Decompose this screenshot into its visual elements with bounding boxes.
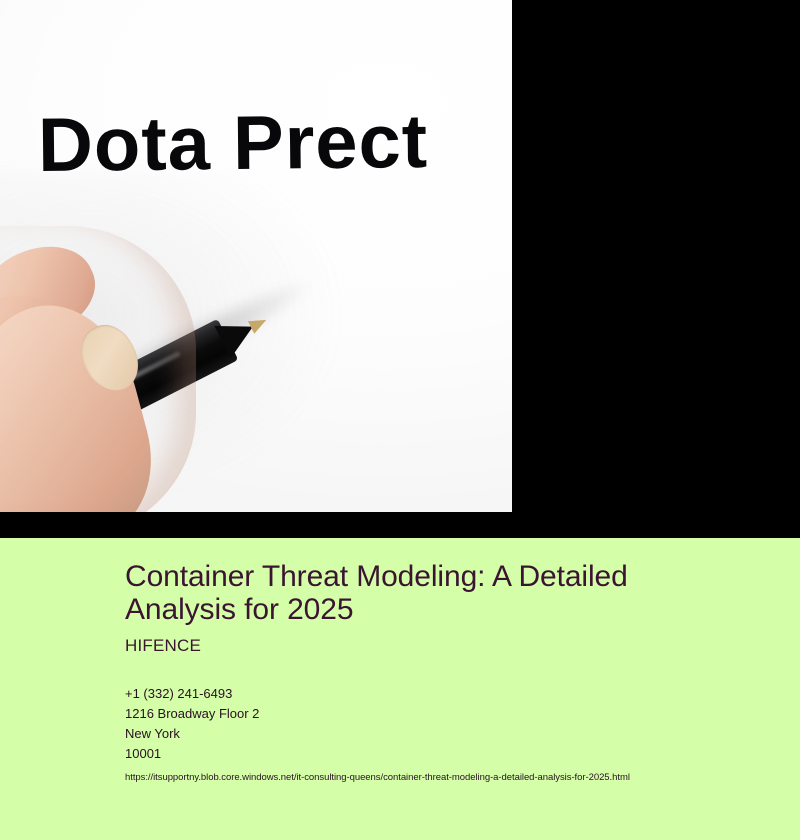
contact-street: 1216 Broadway Floor 2 [125,704,760,724]
hand-illustration [0,232,190,512]
contact-block: +1 (332) 241-6493 1216 Broadway Floor 2 … [125,684,760,764]
info-content: Container Threat Modeling: A Detailed An… [125,560,760,784]
page-title: Container Threat Modeling: A Detailed An… [125,560,695,626]
hero-banner: Dota Prect [0,0,800,538]
brand-name: HIFENCE [125,636,760,656]
photo-headline-text: Dota Prect [38,104,429,184]
source-url[interactable]: https://itsupportny.blob.core.windows.ne… [125,771,760,784]
hero-photo: Dota Prect [0,0,512,512]
contact-phone[interactable]: +1 (332) 241-6493 [125,684,760,704]
contact-zip: 10001 [125,744,760,764]
contact-city: New York [125,724,760,744]
thumb [0,287,170,512]
info-panel: Container Threat Modeling: A Detailed An… [0,538,800,840]
